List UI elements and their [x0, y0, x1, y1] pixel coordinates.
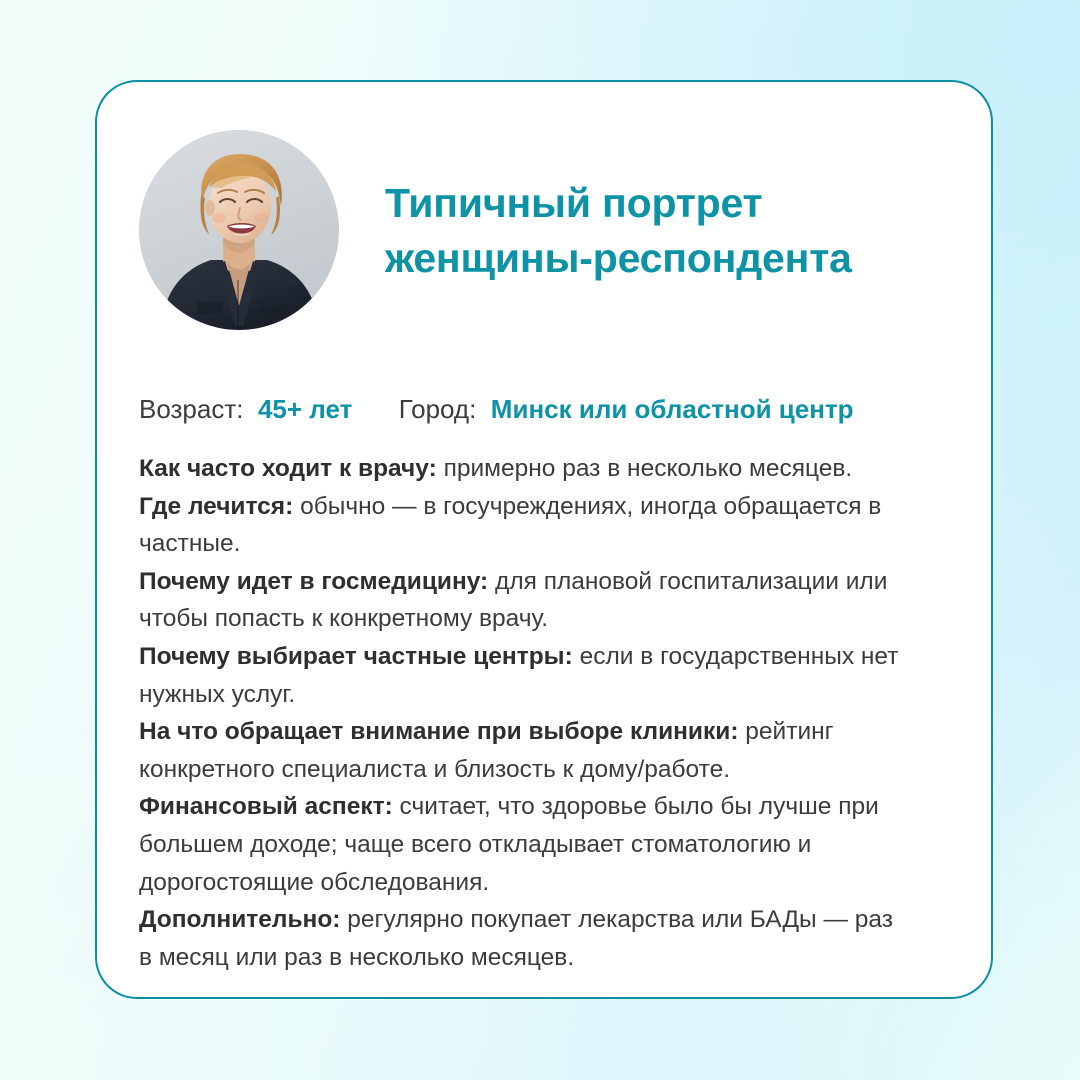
age-value: 45+ лет — [258, 394, 352, 424]
fact-list: Как часто ходит к врачу: примерно раз в … — [139, 450, 899, 976]
fact-label: Финансовый аспект: — [139, 793, 393, 820]
fact-label: Почему выбирает частные центры: — [139, 643, 573, 670]
fact-item: Дополнительно: регулярно покупает лекарс… — [139, 901, 899, 976]
city-label: Город: — [399, 394, 477, 424]
fact-label: На что обращает внимание при выборе клин… — [139, 718, 738, 745]
fact-label: Дополнительно: — [139, 906, 340, 933]
fact-label: Как часто ходит к врачу: — [139, 455, 437, 482]
card-header: Типичный портрет женщины-респондента — [97, 82, 991, 352]
avatar — [139, 130, 339, 330]
meta-row: Возраст: 45+ лет Город: Минск или област… — [139, 392, 959, 426]
fact-item: Финансовый аспект: считает, что здоровье… — [139, 788, 899, 901]
fact-item: Почему выбирает частные центры: если в г… — [139, 638, 899, 713]
fact-item: Где лечится: обычно — в госучреждениях, … — [139, 488, 899, 563]
fact-item: Почему идет в госмедицину: для плановой … — [139, 563, 899, 638]
fact-label: Где лечится: — [139, 493, 293, 520]
fact-value: примерно раз в несколько месяцев. — [444, 455, 853, 482]
page-title-line-1: Типичный портрет — [385, 176, 965, 231]
age-label: Возраст: — [139, 394, 243, 424]
fact-item: На что обращает внимание при выборе клин… — [139, 713, 899, 788]
fact-item: Как часто ходит к врачу: примерно раз в … — [139, 450, 899, 488]
fact-label: Почему идет в госмедицину: — [139, 568, 488, 595]
page-title-line-2: женщины-респондента — [385, 231, 965, 286]
city-value: Минск или областной центр — [491, 394, 854, 424]
profile-card: Типичный портрет женщины-респондента Воз… — [95, 80, 993, 999]
page-title: Типичный портрет женщины-респондента — [385, 176, 965, 286]
